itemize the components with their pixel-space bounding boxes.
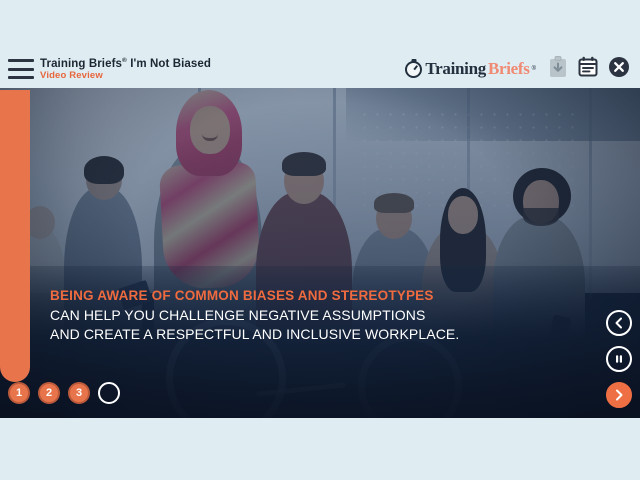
logo-word-training: Training [425,59,486,79]
course-title-text: Training Briefs [40,58,122,70]
chevron-left-icon [613,317,625,329]
course-subtitle: Video Review [40,71,405,82]
hamburger-line [8,59,34,62]
notes-calendar-icon[interactable] [578,56,598,82]
orange-accent-bar [0,90,30,382]
video-frame-photo [0,88,640,418]
caption-line-3: AND CREATE A RESPECTFUL AND INCLUSIVE WO… [50,325,459,345]
header-title-block: Training Briefs® I'm Not Biased Video Re… [40,56,405,81]
logo-registered-mark: ® [532,66,536,72]
caption-line-1: BEING AWARE OF COMMON BIASES AND STEREOT… [50,286,459,306]
next-button[interactable] [606,382,632,408]
pause-icon [613,353,625,365]
chapter-dot-4[interactable] [98,382,120,404]
download-resources-icon[interactable] [548,56,568,83]
playback-controls [606,310,632,408]
previous-button[interactable] [606,310,632,336]
chapter-pagination: 1 2 3 [8,382,120,404]
close-icon[interactable] [608,56,630,83]
hamburger-menu-icon[interactable] [8,59,34,79]
chapter-dot-3[interactable]: 3 [68,382,90,404]
training-briefs-logo: Training Briefs ® [405,59,536,79]
chapter-dot-2[interactable]: 2 [38,382,60,404]
video-player[interactable]: BEING AWARE OF COMMON BIASES AND STEREOT… [0,88,640,418]
pause-button[interactable] [606,346,632,372]
hamburger-line [8,76,34,79]
chevron-right-icon [613,389,625,401]
caption-overlay: BEING AWARE OF COMMON BIASES AND STEREOT… [50,286,459,345]
player-stage: Training Briefs® I'm Not Biased Video Re… [0,0,640,480]
player-header: Training Briefs® I'm Not Biased Video Re… [0,50,640,88]
course-title: Training Briefs® I'm Not Biased [40,57,405,71]
chapter-dot-1[interactable]: 1 [8,382,30,404]
vignette-overlay [0,88,640,418]
caption-line-2: CAN HELP YOU CHALLENGE NEGATIVE ASSUMPTI… [50,306,459,326]
stopwatch-icon [405,61,422,78]
logo-word-briefs: Briefs [488,59,530,79]
hamburger-line [8,68,34,71]
course-title-suffix: I'm Not Biased [127,58,211,70]
